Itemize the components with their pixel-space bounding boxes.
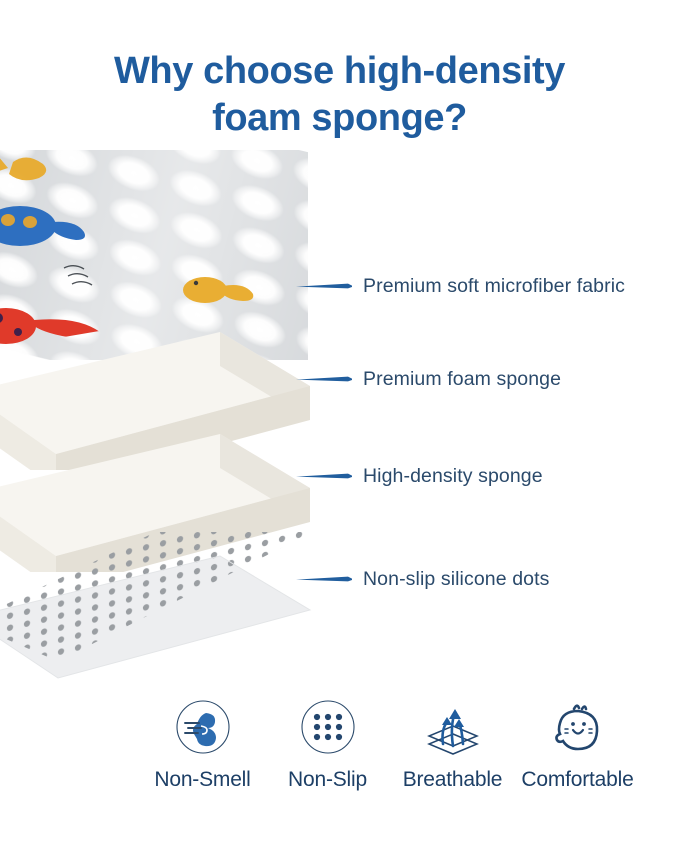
breathable-icon [423, 696, 483, 758]
callout-premium-soft-microfiber-fabric: Premium soft microfiber fabric [296, 273, 625, 299]
non-slip-icon [299, 696, 357, 758]
feature-label: Comfortable [521, 768, 633, 792]
callout-label: High-density sponge [363, 465, 543, 488]
feature-strip: Non-Smell Non-Slip [140, 696, 679, 792]
leader-line-icon [296, 281, 352, 291]
product-infographic: Why choose high-density foam sponge? [0, 0, 679, 849]
feature-label: Non-Slip [288, 768, 367, 792]
feature-non-smell: Non-Smell [140, 696, 265, 792]
callout-label: Premium foam sponge [363, 368, 561, 391]
callout-label: Premium soft microfiber fabric [363, 275, 625, 298]
feature-comfortable: Comfortable [515, 696, 640, 792]
page-title: Why choose high-density foam sponge? [0, 48, 679, 142]
callout-premium-foam-sponge: Premium foam sponge [296, 366, 561, 392]
page-title-line-2: foam sponge? [0, 95, 679, 142]
page-title-line-1: Why choose high-density [0, 48, 679, 95]
callout-label: Non-slip silicone dots [363, 568, 549, 591]
feature-label: Breathable [403, 768, 503, 792]
non-smell-icon [174, 696, 232, 758]
callout-non-slip-silicone-dots: Non-slip silicone dots [296, 566, 549, 592]
exploded-mattress-illustration [0, 150, 318, 695]
feature-label: Non-Smell [154, 768, 250, 792]
feature-breathable: Breathable [390, 696, 515, 792]
leader-line-icon [296, 374, 352, 384]
leader-line-icon [296, 471, 352, 481]
leader-line-icon [296, 574, 352, 584]
callout-high-density-sponge: High-density sponge [296, 463, 543, 489]
silicone-dot-backing-layer [0, 532, 318, 682]
comfortable-icon [549, 696, 607, 758]
feature-non-slip: Non-Slip [265, 696, 390, 792]
